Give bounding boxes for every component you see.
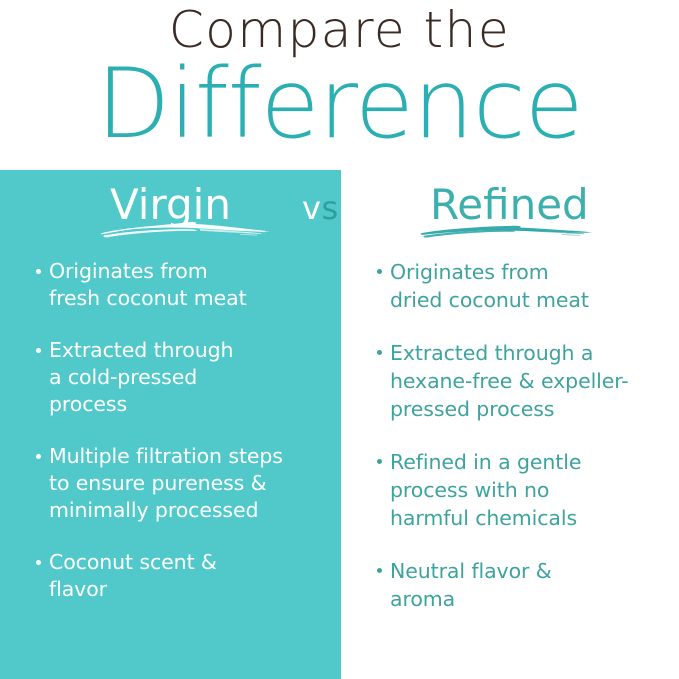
list-item: Refined in a gentle process with no harm… — [377, 448, 667, 532]
virgin-bullet-list: Originates from fresh coconut meat Extra… — [36, 258, 328, 628]
bullet-dot-icon — [377, 269, 382, 274]
bullet-dot-icon — [377, 350, 382, 355]
bullet-dot-icon — [36, 348, 41, 353]
list-item: Originates from fresh coconut meat — [36, 258, 328, 312]
list-item: Originates from dried coconut meat — [377, 258, 667, 314]
list-item-text: Multiple filtration steps to ensure pure… — [49, 443, 328, 524]
list-item-text: Coconut scent & flavor — [49, 549, 328, 603]
list-item: Extracted through a cold-pressed process — [36, 337, 328, 418]
list-item-text: Refined in a gentle process with no harm… — [390, 448, 667, 532]
refined-bullet-list: Originates from dried coconut meat Extra… — [377, 258, 667, 638]
list-item: Multiple filtration steps to ensure pure… — [36, 443, 328, 524]
list-item-text: Extracted through a cold-pressed process — [49, 337, 328, 418]
list-item-text: Originates from fresh coconut meat — [49, 258, 328, 312]
virgin-heading: Virgin — [110, 182, 231, 228]
bullet-dot-icon — [377, 459, 382, 464]
list-item-text: Originates from dried coconut meat — [390, 258, 667, 314]
versus-label-v: v — [302, 189, 321, 227]
versus-label-s: s — [321, 189, 338, 227]
bullet-dot-icon — [36, 269, 41, 274]
list-item: Coconut scent & flavor — [36, 549, 328, 603]
list-item: Neutral flavor & aroma — [377, 557, 667, 613]
bullet-dot-icon — [377, 568, 382, 573]
refined-heading: Refined — [430, 182, 589, 228]
bullet-dot-icon — [36, 454, 41, 459]
compare-infographic: Compare the Difference Virgin vs Refined… — [0, 0, 679, 679]
list-item-text: Extracted through a hexane-free & expell… — [390, 339, 667, 423]
title-line-difference: Difference — [0, 48, 679, 160]
bullet-dot-icon — [36, 560, 41, 565]
list-item: Extracted through a hexane-free & expell… — [377, 339, 667, 423]
list-item-text: Neutral flavor & aroma — [390, 557, 667, 613]
header: Compare the Difference — [0, 0, 679, 170]
versus-label: vs — [302, 190, 339, 226]
